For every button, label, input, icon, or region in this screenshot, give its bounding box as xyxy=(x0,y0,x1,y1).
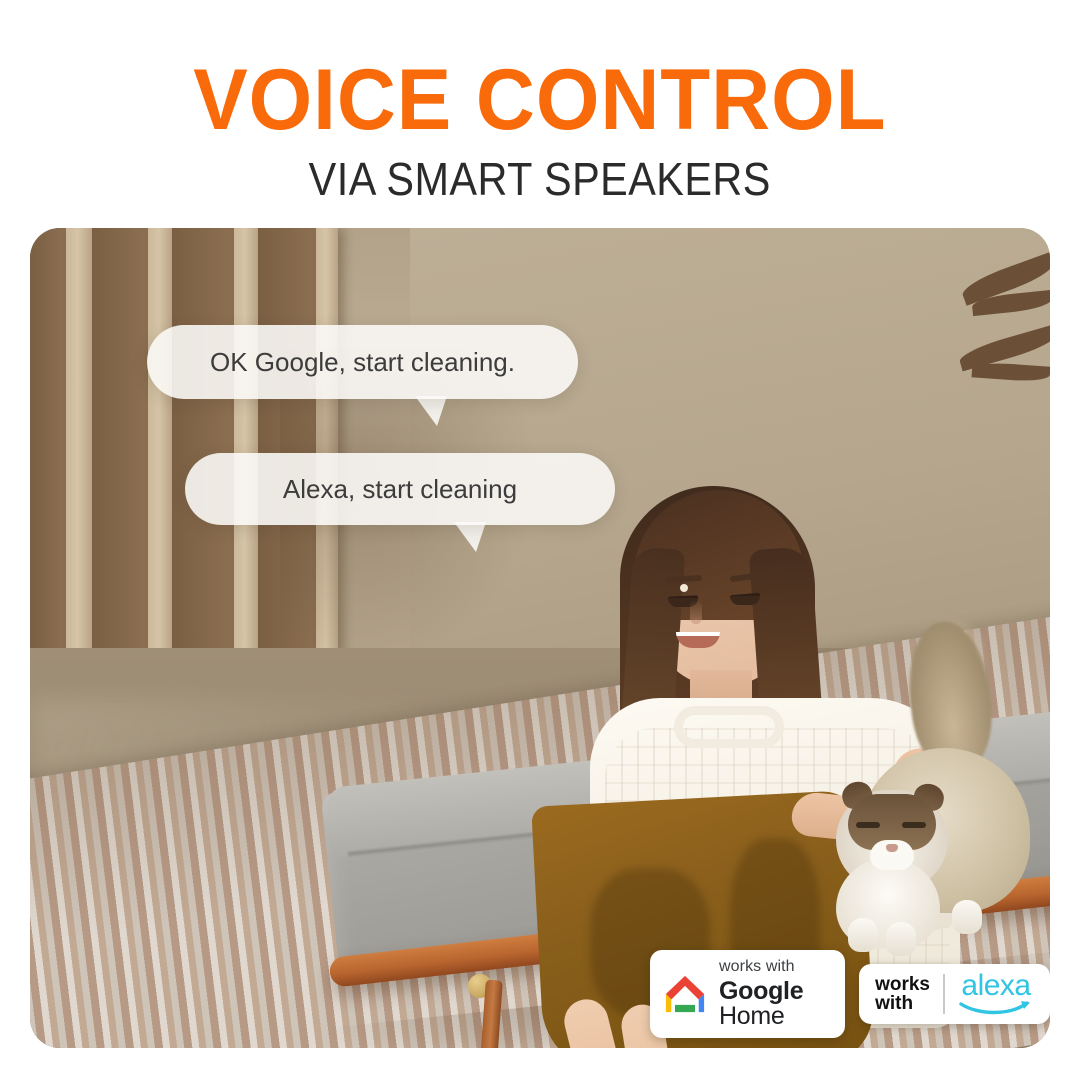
header-block: VOICE CONTROL VIA SMART SPEAKERS xyxy=(0,0,1080,228)
cat-nose xyxy=(886,844,898,852)
alexa-brand-word: alexa xyxy=(961,972,1030,1001)
alexa-works-line-1: works xyxy=(875,975,930,994)
google-home-badge-text: works with Google Home xyxy=(719,959,829,1029)
woman-nose xyxy=(690,600,702,624)
woman-eye xyxy=(730,596,760,605)
works-with-google-home-badge[interactable]: works with Google Home xyxy=(650,950,845,1038)
speech-bubble-alexa-text: Alexa, start cleaning xyxy=(283,474,517,505)
cat-eye xyxy=(902,822,926,828)
works-with-alexa-badge[interactable]: works with alexa xyxy=(859,964,1050,1024)
hero-photo: OK Google, start cleaning. Alexa, start … xyxy=(30,228,1050,1048)
alexa-works-with-label: works with xyxy=(875,975,930,1014)
page-title: VOICE CONTROL xyxy=(193,58,886,142)
cat-paw xyxy=(952,900,982,934)
page-subtitle: VIA SMART SPEAKERS xyxy=(309,152,771,206)
amazon-smile-icon xyxy=(958,1000,1034,1016)
woman-earring xyxy=(680,584,688,592)
alexa-works-line-2: with xyxy=(875,994,930,1013)
speech-bubble-google: OK Google, start cleaning. xyxy=(147,325,578,399)
speech-bubble-tail xyxy=(454,522,486,552)
compatibility-badges: works with Google Home works with alexa xyxy=(650,950,1050,1038)
alexa-logo: alexa xyxy=(958,972,1034,1016)
badge-divider xyxy=(943,974,945,1014)
speech-bubble-google-text: OK Google, start cleaning. xyxy=(210,347,515,378)
speech-bubble-alexa: Alexa, start cleaning xyxy=(185,453,615,525)
photo-scene: OK Google, start cleaning. Alexa, start … xyxy=(30,228,1050,1048)
cat-paw xyxy=(848,918,878,952)
google-home-brand: Google Home xyxy=(719,979,829,1029)
cat-eye xyxy=(856,822,880,828)
google-works-with-label: works with xyxy=(719,959,829,975)
sweater-collar xyxy=(674,706,784,748)
google-brand-word: Google xyxy=(719,977,803,1005)
speech-bubble-tail xyxy=(415,396,447,426)
google-home-house-icon xyxy=(663,974,707,1014)
home-brand-word: Home xyxy=(719,1002,785,1030)
